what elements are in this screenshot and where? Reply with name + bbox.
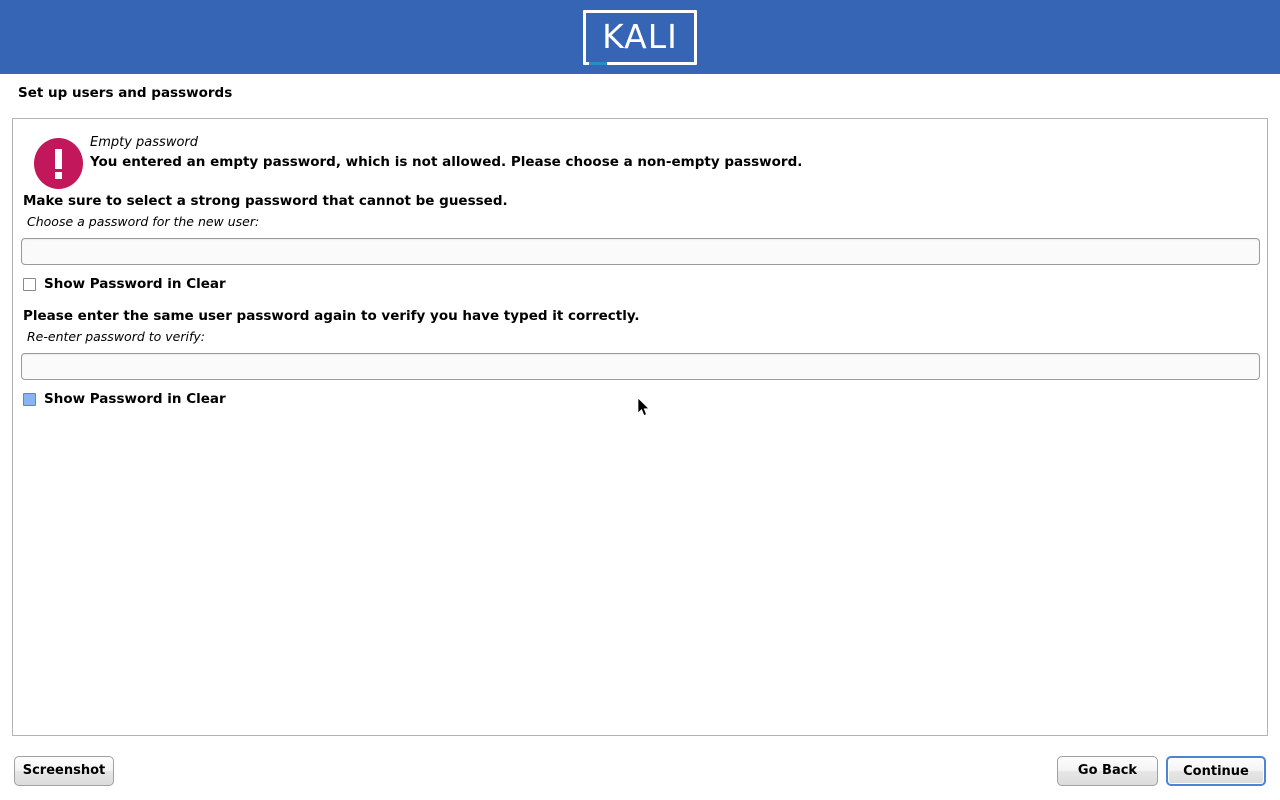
verify-password-input[interactable] [21, 353, 1260, 380]
logo-text: KALI [583, 10, 697, 65]
continue-button[interactable]: Continue [1166, 756, 1266, 786]
verify-field-label: Re-enter password to verify: [27, 329, 205, 344]
installer-banner: KALI [0, 0, 1280, 74]
exclamation-dot [55, 172, 62, 179]
error-title: Empty password [90, 135, 198, 150]
go-back-button[interactable]: Go Back [1057, 756, 1158, 786]
exclamation-bar [55, 149, 62, 169]
show-password-label-1: Show Password in Clear [44, 276, 226, 292]
show-password-checkbox-1[interactable] [23, 278, 36, 291]
show-password-row-2[interactable]: Show Password in Clear [23, 391, 226, 407]
password-field-label: Choose a password for the new user: [27, 214, 259, 229]
error-exclamation-icon [34, 138, 83, 189]
verify-password-note: Please enter the same user password agai… [23, 308, 640, 324]
page-title: Set up users and passwords [18, 85, 232, 101]
kali-bracket-logo: KALI [583, 10, 697, 65]
password-input[interactable] [21, 238, 1260, 265]
screenshot-button[interactable]: Screenshot [14, 756, 114, 786]
show-password-label-2: Show Password in Clear [44, 391, 226, 407]
strong-password-note: Make sure to select a strong password th… [23, 193, 508, 209]
show-password-checkbox-2[interactable] [23, 393, 36, 406]
error-message: You entered an empty password, which is … [90, 154, 802, 170]
main-content-panel: Empty password You entered an empty pass… [12, 118, 1268, 736]
show-password-row-1[interactable]: Show Password in Clear [23, 276, 226, 292]
